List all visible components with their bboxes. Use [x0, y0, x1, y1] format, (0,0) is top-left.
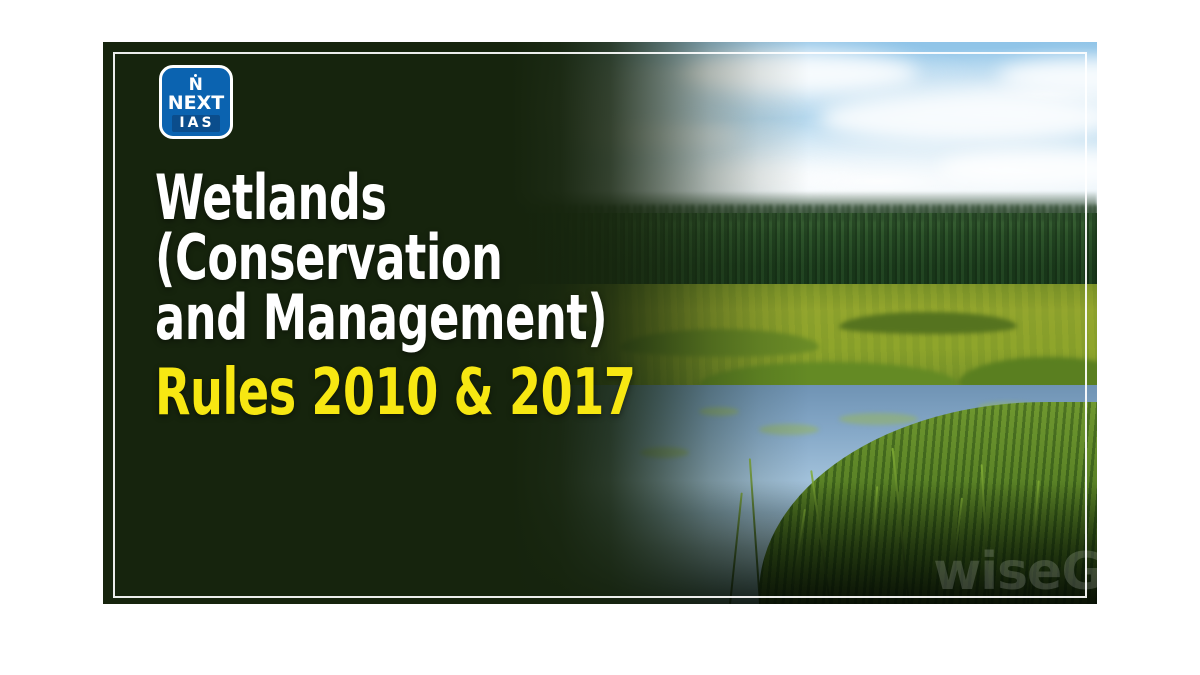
headline-line-3: and Management)	[155, 288, 603, 348]
logo-mark-letter-text: N	[189, 75, 204, 95]
logo-brand-name: NEXT	[168, 94, 225, 113]
logo-mark-letter: N	[189, 74, 204, 92]
screenshot-canvas: wiseG N NEXT IAS Wetlands (Conservation …	[0, 0, 1200, 675]
headline-line-4-accent: Rules 2010 & 2017	[155, 362, 603, 424]
logo-brand-suffix: IAS	[172, 115, 219, 132]
banner-headline: Wetlands (Conservation and Management) R…	[155, 168, 715, 424]
wetlands-banner-card: wiseG N NEXT IAS Wetlands (Conservation …	[103, 42, 1097, 604]
headline-line-2: (Conservation	[155, 228, 603, 288]
watermark-text: wiseG	[933, 546, 1097, 598]
headline-line-1: Wetlands	[155, 168, 603, 228]
next-ias-logo-icon[interactable]: N NEXT IAS	[159, 65, 233, 139]
